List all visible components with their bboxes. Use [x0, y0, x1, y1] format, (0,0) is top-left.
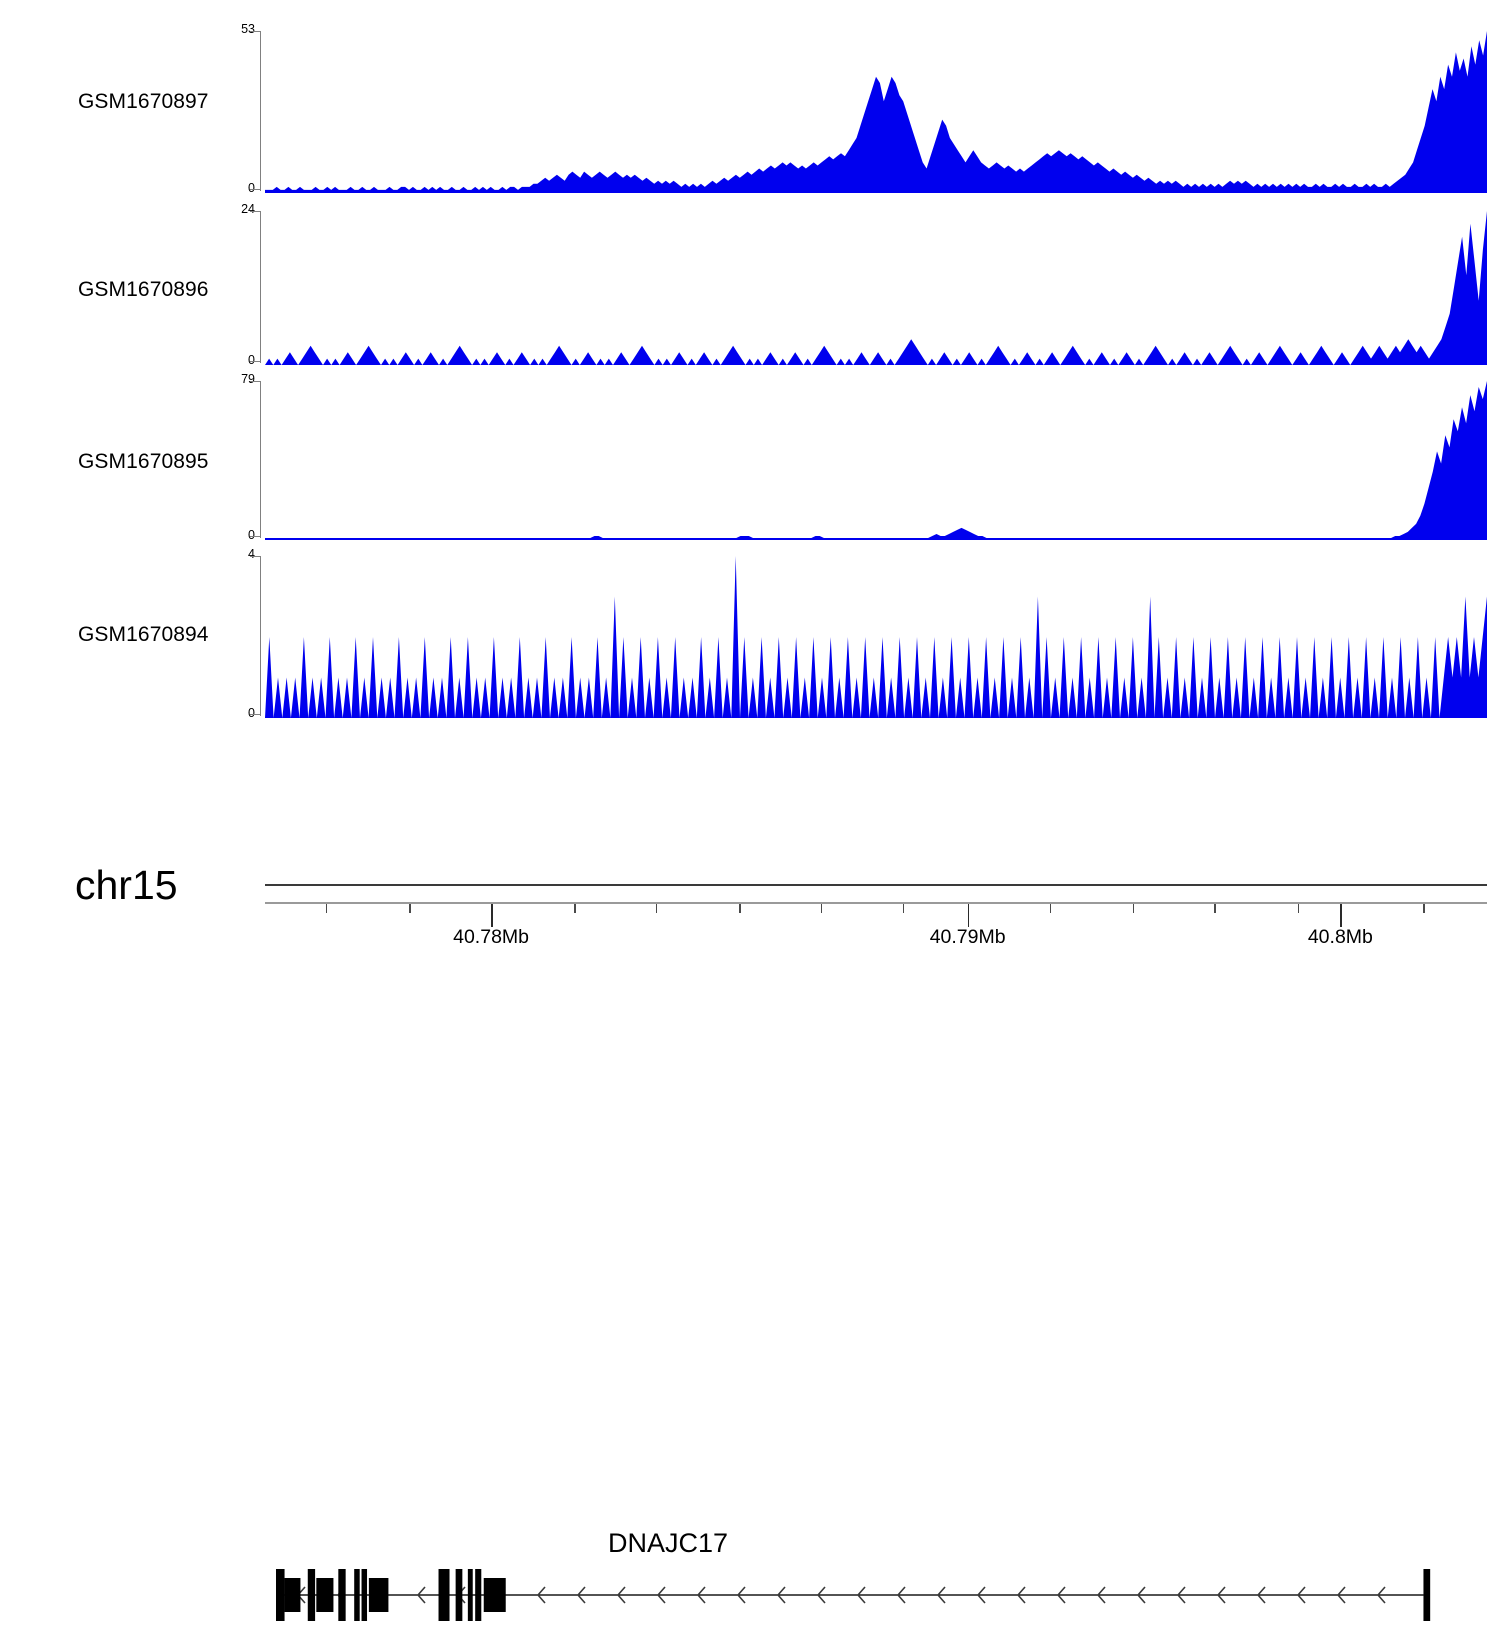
gene-annotation-track[interactable]: DNAJC17 — [0, 760, 1500, 880]
track-label-0: GSM1670897 — [78, 90, 209, 114]
track-2-plot — [265, 381, 1487, 540]
track-3-signal — [265, 556, 1487, 718]
track-2-ymax: 79 — [215, 372, 255, 386]
track-1-signal — [265, 211, 1487, 365]
gene-name-label: DNAJC17 — [608, 1528, 728, 1559]
track-1-plot — [265, 211, 1487, 365]
track-2-ymin: 0 — [215, 528, 255, 542]
axis-tick-minor — [903, 904, 904, 913]
track-label-3: GSM1670894 — [78, 623, 209, 647]
axis-tick-minor — [409, 904, 410, 913]
coverage-track-1: GSM1670896 24 0 — [0, 208, 1500, 368]
track-3-ymax: 4 — [215, 547, 255, 561]
axis-tick-major — [1340, 904, 1342, 927]
gene-track-baseline — [265, 884, 1487, 886]
track-1-ymax: 24 — [215, 202, 255, 216]
axis-tick-minor — [1133, 904, 1134, 913]
coverage-track-2: GSM1670895 79 0 — [0, 378, 1500, 542]
axis-line — [265, 902, 1487, 904]
track-0-plot — [265, 31, 1487, 193]
axis-tick-minor — [1050, 904, 1051, 913]
axis-tick-minor — [739, 904, 740, 913]
axis-tick-minor — [656, 904, 657, 913]
coverage-track-3: GSM1670894 4 0 — [0, 553, 1500, 721]
track-0-axis — [250, 31, 262, 191]
axis-tick-minor — [1214, 904, 1215, 913]
axis-tick-minor — [574, 904, 575, 913]
track-3-plot — [265, 556, 1487, 718]
axis-tick-label: 40.78Mb — [453, 926, 529, 949]
axis-tick-minor — [1298, 904, 1299, 913]
chromosome-label: chr15 — [75, 862, 178, 909]
track-3-ymin: 0 — [215, 706, 255, 720]
track-1-ymin: 0 — [215, 353, 255, 367]
track-1-axis — [250, 211, 262, 363]
axis-tick-minor — [821, 904, 822, 913]
track-0-ymax: 53 — [215, 22, 255, 36]
coverage-track-0: GSM1670897 53 0 — [0, 28, 1500, 198]
track-0-ymin: 0 — [215, 181, 255, 195]
track-label-2: GSM1670895 — [78, 450, 209, 474]
axis-tick-minor — [326, 904, 327, 913]
gene-model[interactable] — [265, 1560, 1487, 1630]
track-2-axis — [250, 381, 262, 538]
axis-tick-major — [968, 904, 970, 927]
axis-tick-label: 40.79Mb — [930, 926, 1006, 949]
track-3-axis — [250, 556, 262, 716]
track-label-1: GSM1670896 — [78, 278, 209, 302]
track-2-signal — [265, 381, 1487, 540]
axis-tick-label: 40.8Mb — [1308, 926, 1373, 949]
axis-tick-minor — [1423, 904, 1424, 913]
track-0-signal — [265, 31, 1487, 193]
axis-tick-major — [491, 904, 493, 927]
coordinate-axis: 40.78Mb40.79Mb40.8Mb — [265, 880, 1487, 970]
